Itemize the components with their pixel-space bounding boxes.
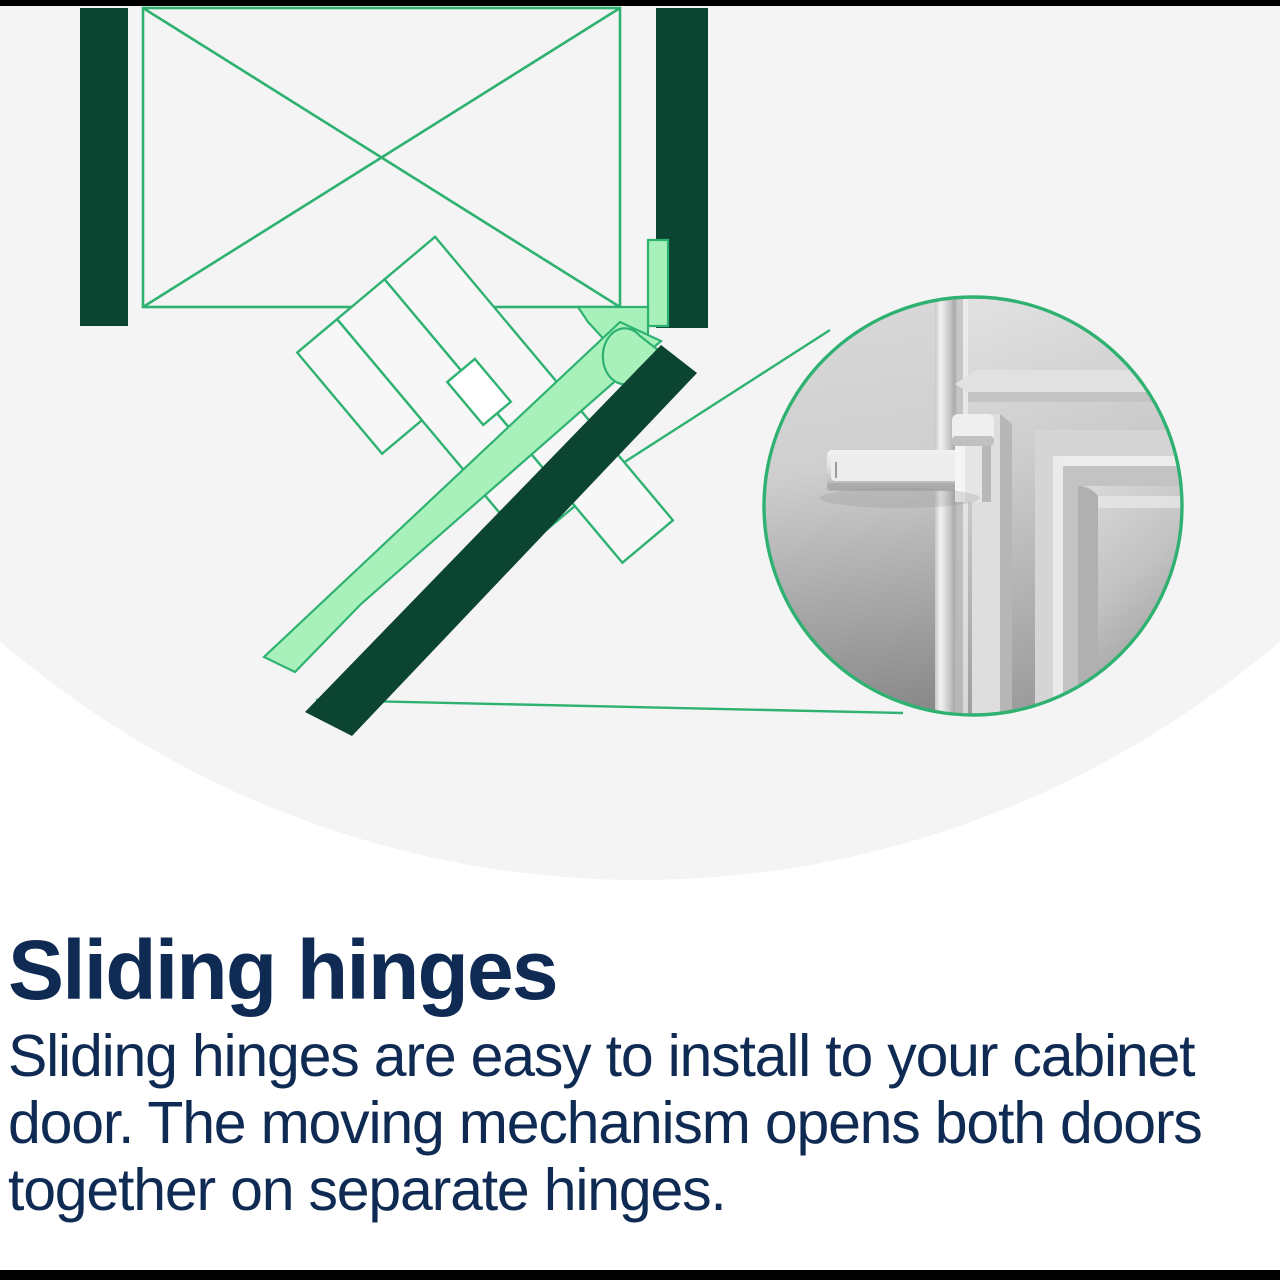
bottom-letterbox-bar	[0, 1270, 1280, 1280]
page-title: Sliding hinges	[8, 930, 1280, 1011]
sliding-hinge-diagram	[0, 0, 1280, 880]
hinge-photo-callout	[760, 294, 1188, 720]
screenshot-root: Sliding hinges Sliding hinges are easy t…	[0, 0, 1280, 1280]
hinge-mount-plate	[648, 240, 668, 326]
text-block: Sliding hinges Sliding hinges are easy t…	[0, 930, 1280, 1224]
top-letterbox-bar	[0, 0, 1280, 6]
leader-line-lower	[316, 700, 903, 713]
cabinet-body-outline	[143, 8, 620, 307]
cabinet-left-panel	[80, 8, 128, 326]
body-paragraph: Sliding hinges are easy to install to yo…	[8, 1023, 1280, 1225]
